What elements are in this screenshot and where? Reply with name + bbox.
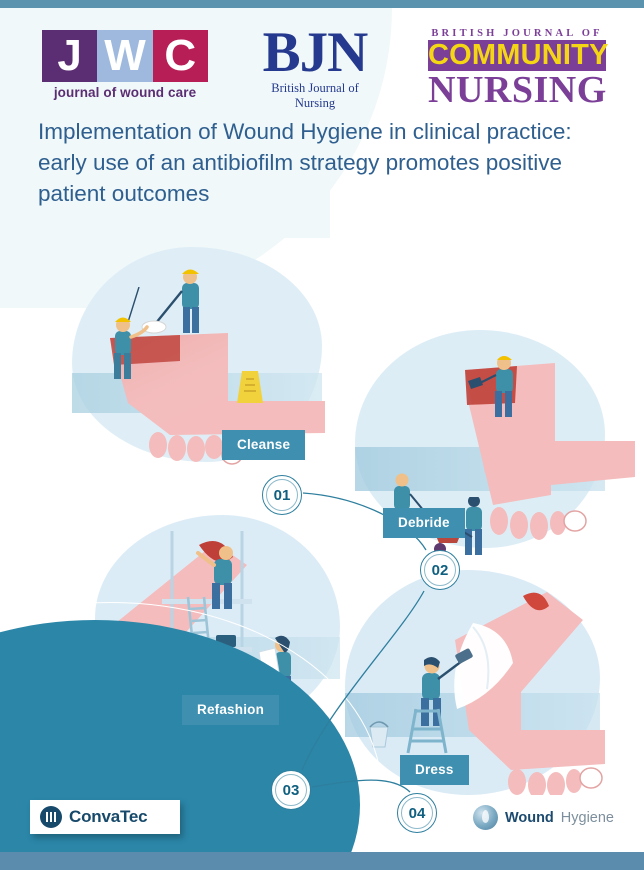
step-connector-lines [0,225,644,805]
wound-hygiene-logo: Wound Hygiene [473,805,614,830]
step-badge-03-number: 03 [283,782,300,799]
step-badge-03[interactable]: 03 [271,770,311,810]
bjn-acronym: BJN [250,26,380,80]
jwc-letter-w: W [97,30,152,82]
wound-hygiene-word-1: Wound [505,810,554,826]
bjcn-line-3: NURSING [428,71,606,110]
step-label-debride[interactable]: Debride [383,508,465,538]
convatec-logo: ConvaTec [30,800,180,834]
step-label-dress-text: Dress [415,762,454,777]
step-label-dress[interactable]: Dress [400,755,469,785]
step-badge-04-number: 04 [409,805,426,822]
bottom-accent-bar [0,852,644,870]
jwc-letter-j: J [42,30,97,82]
bjcn-line-1: BRITISH JOURNAL OF [428,28,606,39]
step-label-refashion-text: Refashion [197,702,264,717]
droplet-icon [473,805,498,830]
step-label-cleanse-text: Cleanse [237,437,290,452]
step-badge-01-number: 01 [274,487,291,504]
jwc-letter-blocks: J W C [42,30,208,82]
step-label-debride-text: Debride [398,515,450,530]
convatec-wordmark: ConvaTec [69,807,147,827]
jwc-tagline: journal of wound care [42,85,208,100]
step-badge-01[interactable]: 01 [262,475,302,515]
step-label-cleanse[interactable]: Cleanse [222,430,305,460]
jwc-letter-c: C [153,30,208,82]
bjn-logo: BJN British Journal of Nursing [250,26,380,111]
page-title: Implementation of Wound Hygiene in clini… [38,116,598,209]
poster-page: J W C journal of wound care BJN British … [0,0,644,870]
journal-logos: J W C journal of wound care BJN British … [0,22,644,107]
step-badge-02-number: 02 [432,562,449,579]
wound-hygiene-word-2: Hygiene [561,810,614,826]
top-accent-bar [0,0,644,8]
bjcn-line-2: COMMUNITY [428,40,606,71]
bjcn-logo: BRITISH JOURNAL OF COMMUNITY NURSING [428,28,606,110]
wound-hygiene-illustration: 01 Cleanse [0,225,644,805]
step-badge-02[interactable]: 02 [420,550,460,590]
step-label-refashion[interactable]: Refashion [182,695,279,725]
convatec-column-bars [46,812,57,822]
jwc-logo: J W C journal of wound care [42,30,208,100]
bjn-subtitle: British Journal of Nursing [250,81,380,111]
step-badge-04[interactable]: 04 [397,793,437,833]
convatec-column-icon [40,806,62,828]
